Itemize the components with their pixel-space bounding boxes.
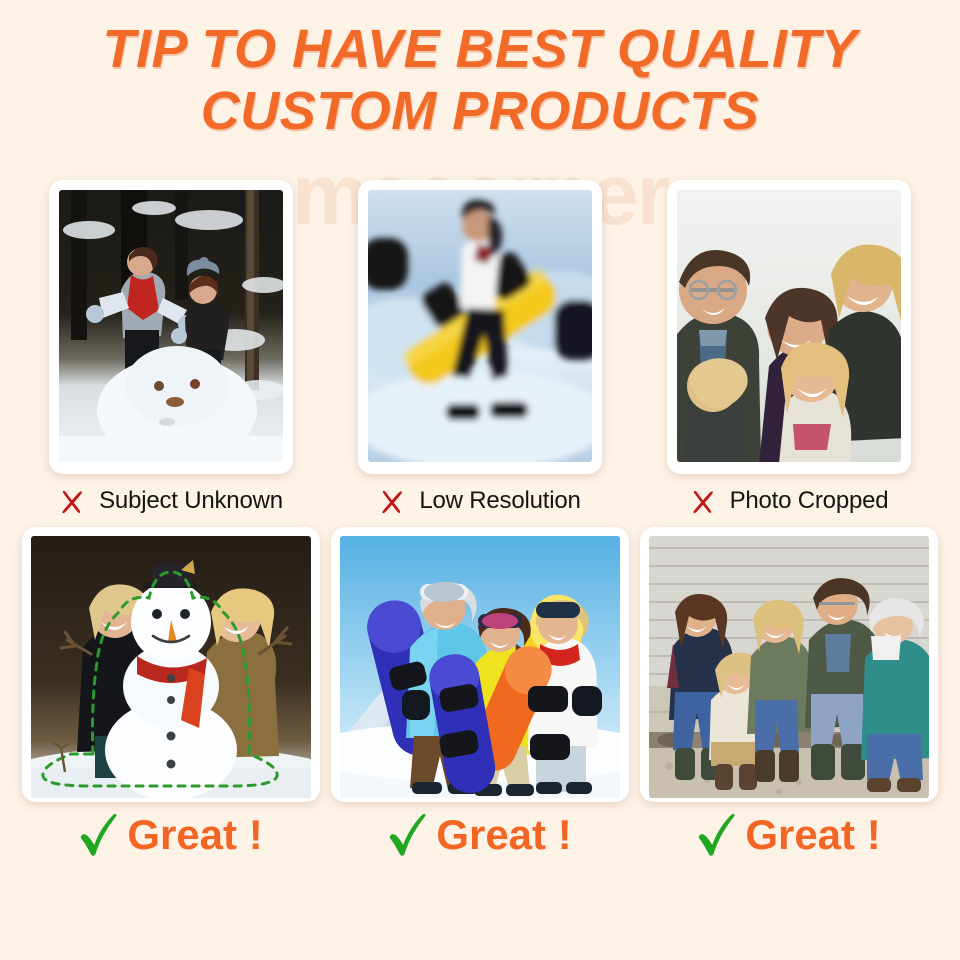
good-label: Great !	[331, 802, 629, 868]
good-label-text: Great !	[127, 814, 262, 856]
bad-label-text: Low Resolution	[419, 487, 580, 515]
examples-grid: Subject Unknown	[0, 180, 960, 868]
bad-label-text: Subject Unknown	[99, 487, 283, 515]
cross-icon	[690, 488, 717, 515]
check-icon	[388, 813, 428, 857]
good-label-text: Great !	[436, 814, 571, 856]
photo-card	[331, 527, 629, 802]
page-title-line-2: CUSTOM PRODUCTS	[0, 80, 960, 142]
photo-snowman-outlined	[31, 536, 311, 798]
bad-example-subject-unknown: Subject Unknown	[22, 180, 320, 515]
bad-label: Subject Unknown	[22, 487, 320, 515]
photo-subject-unknown	[59, 190, 283, 462]
good-example-1: Great !	[22, 527, 320, 868]
photo-snowboarders	[340, 536, 620, 798]
good-label: Great !	[640, 802, 938, 868]
photo-card	[49, 180, 293, 474]
good-example-3: Great !	[640, 527, 938, 868]
check-icon	[697, 813, 737, 857]
photo-cropped	[677, 190, 901, 462]
photo-card	[358, 180, 602, 474]
photo-card	[667, 180, 911, 474]
bad-example-photo-cropped: Photo Cropped	[640, 180, 938, 515]
bad-examples-row: Subject Unknown	[0, 180, 960, 515]
good-examples-row: Great !	[0, 527, 960, 868]
page-title-line-1: TIP TO HAVE BEST QUALITY	[0, 18, 960, 80]
photo-card	[640, 527, 938, 802]
good-label-text: Great !	[745, 814, 880, 856]
photo-card	[22, 527, 320, 802]
bad-label-text: Photo Cropped	[730, 487, 889, 515]
photo-family-barn	[649, 536, 929, 798]
photo-low-resolution	[368, 190, 592, 462]
good-example-2: Great !	[331, 527, 629, 868]
cross-icon	[59, 488, 86, 515]
page-title: TIP TO HAVE BEST QUALITY CUSTOM PRODUCTS	[0, 18, 960, 142]
good-label: Great !	[22, 802, 320, 868]
bad-label: Low Resolution	[331, 487, 629, 515]
cross-icon	[379, 488, 406, 515]
bad-example-low-resolution: Low Resolution	[331, 180, 629, 515]
bad-label: Photo Cropped	[640, 487, 938, 515]
check-icon	[79, 813, 119, 857]
